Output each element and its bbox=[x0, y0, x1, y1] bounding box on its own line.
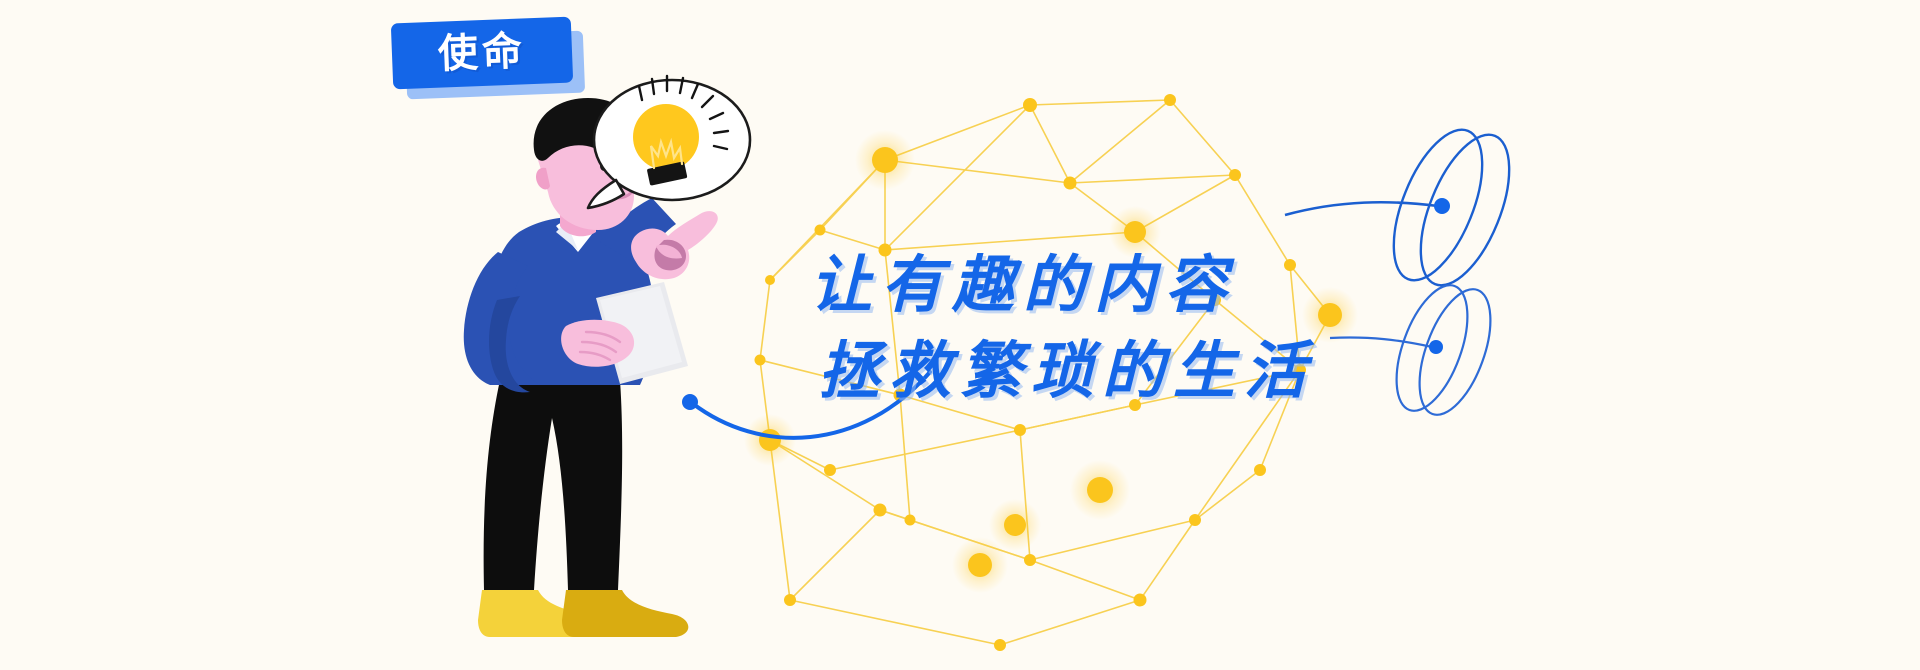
banner-canvas: 使命 让有趣的内容 拯救繁琐的生活 bbox=[0, 0, 1920, 670]
headline-line-1: 让有趣的内容 bbox=[810, 242, 1550, 328]
headline-line-2: 拯救繁琐的生活 bbox=[810, 328, 1550, 414]
headline: 让有趣的内容 拯救繁琐的生活 bbox=[810, 242, 1550, 414]
